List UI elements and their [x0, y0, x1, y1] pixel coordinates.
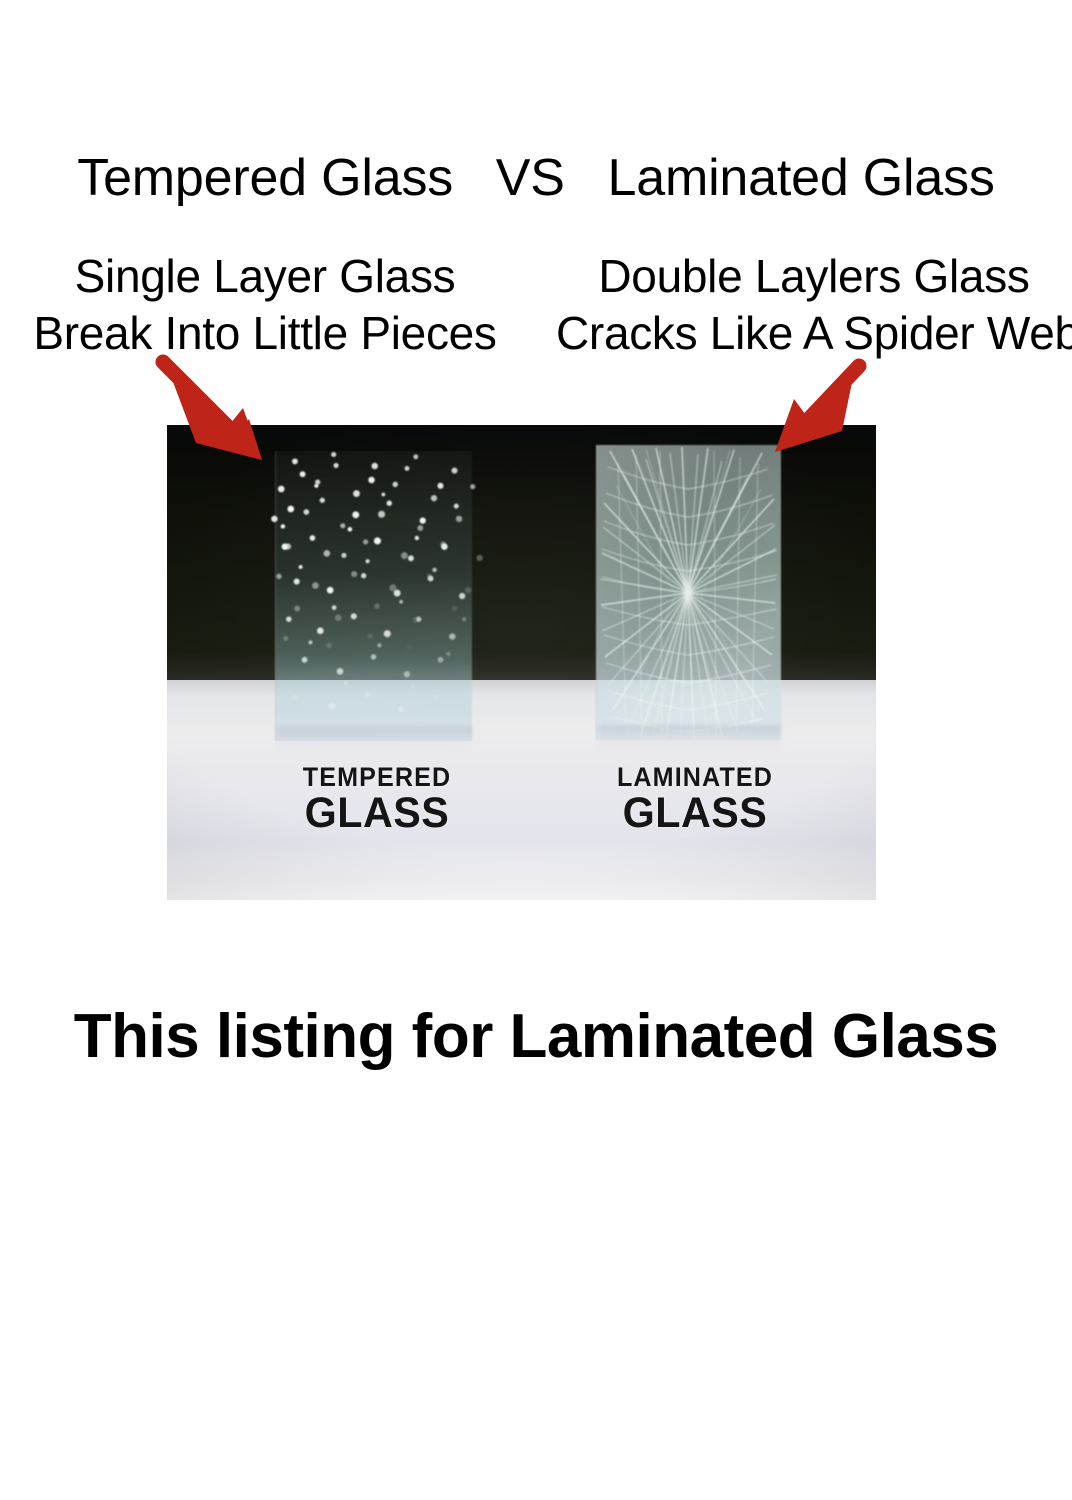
photo-label-tempered-line-1: TEMPERED — [238, 762, 517, 792]
tempered-description: Single Layer Glass Break Into Little Pie… — [10, 248, 520, 362]
laminated-description: Double Laylers Glass Cracks Like A Spide… — [556, 248, 1072, 362]
laminated-description-line-2: Cracks Like A Spider Web — [556, 305, 1072, 362]
tempered-description-line-2: Break Into Little Pieces — [10, 305, 520, 362]
page-title: Tempered Glass VS Laminated Glass — [0, 148, 1072, 208]
photo-label-tempered-line-2: GLASS — [233, 792, 521, 835]
tempered-description-line-1: Single Layer Glass — [10, 248, 520, 305]
laminated-description-line-1: Double Laylers Glass — [556, 248, 1072, 305]
glass-comparison-photo: TEMPERED GLASS LAMINATED GLASS — [167, 425, 876, 900]
photo-label-laminated-line-2: GLASS — [551, 792, 839, 835]
listing-note: This listing for Laminated Glass — [0, 1000, 1072, 1074]
photo-label-tempered: TEMPERED GLASS — [227, 762, 527, 835]
photo-label-laminated-line-1: LAMINATED — [556, 762, 835, 792]
photo-label-laminated: LAMINATED GLASS — [545, 762, 845, 835]
